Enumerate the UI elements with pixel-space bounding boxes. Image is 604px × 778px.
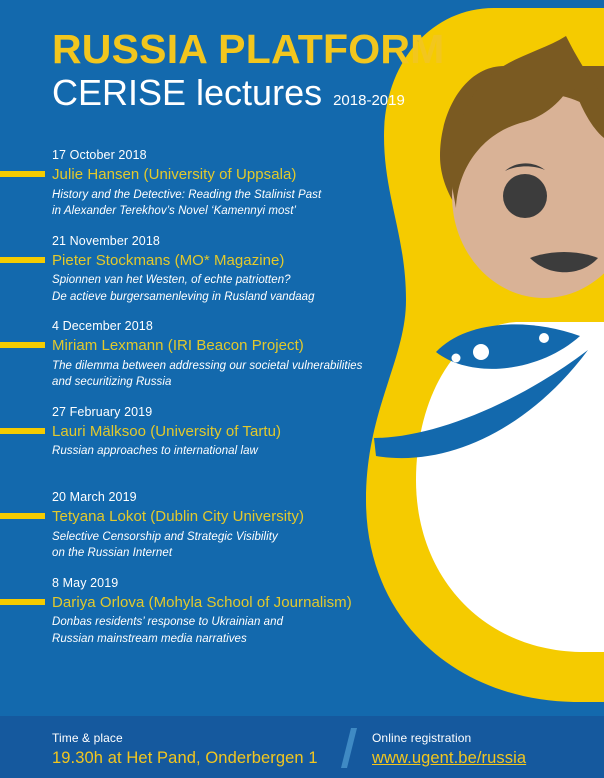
lecture-description-line1: The dilemma between addressing our socie… (52, 358, 420, 374)
lecture-date: 4 December 2018 (52, 317, 420, 335)
list-item: 17 October 2018 Julie Hansen (University… (0, 146, 420, 220)
lecture-dash-marker (0, 599, 45, 605)
lecture-dash-marker (0, 428, 45, 434)
doll-leaf-dot-2 (452, 354, 461, 363)
lecture-description-line1: History and the Detective: Reading the S… (52, 187, 420, 203)
lecture-body: 17 October 2018 Julie Hansen (University… (0, 146, 420, 220)
lecture-dash-marker (0, 342, 45, 348)
footer-inner: Time & place 19.30h at Het Pand, Onderbe… (0, 716, 604, 778)
doll-leaf-decoration-upper (436, 324, 580, 368)
footer-slash-divider: / (341, 728, 359, 768)
lecture-description-line2: in Alexander Terekhov’s Novel ‘Kamennyi … (52, 203, 420, 219)
list-item: 8 May 2019 Dariya Orlova (Mohyla School … (0, 574, 420, 648)
lecture-list: 17 October 2018 Julie Hansen (University… (0, 146, 420, 659)
poster-canvas: RUSSIA PLATFORM CERISE lectures 2018-201… (0, 0, 604, 778)
lecture-description-line1: Selective Censorship and Strategic Visib… (52, 529, 420, 545)
lecture-date: 21 November 2018 (52, 232, 420, 250)
poster-header: RUSSIA PLATFORM CERISE lectures 2018-201… (52, 28, 444, 112)
lecture-description-line1: Donbas residents’ response to Ukrainian … (52, 614, 420, 630)
lecture-body: 20 March 2019 Tetyana Lokot (Dublin City… (0, 488, 420, 562)
lecture-speaker: Lauri Mälksoo (University of Tartu) (52, 421, 420, 444)
page-title: RUSSIA PLATFORM (52, 28, 444, 70)
list-item: 4 December 2018 Miriam Lexmann (IRI Beac… (0, 317, 420, 391)
lecture-speaker: Pieter Stockmans (MO* Magazine) (52, 250, 420, 273)
lecture-description-line2: De actieve burgersamenleving in Rusland … (52, 289, 420, 305)
lecture-date: 20 March 2019 (52, 488, 420, 506)
lecture-speaker: Miriam Lexmann (IRI Beacon Project) (52, 335, 420, 358)
registration-url-link[interactable]: www.ugent.be/russia (372, 747, 526, 769)
lecture-body: 4 December 2018 Miriam Lexmann (IRI Beac… (0, 317, 420, 391)
lecture-date: 27 February 2019 (52, 403, 420, 421)
list-item: 27 February 2019 Lauri Mälksoo (Universi… (0, 403, 420, 477)
lecture-body: 21 November 2018 Pieter Stockmans (MO* M… (0, 232, 420, 306)
doll-face (452, 94, 604, 298)
lecture-speaker: Tetyana Lokot (Dublin City University) (52, 506, 420, 529)
lecture-dash-marker (0, 257, 45, 263)
lecture-description-line2 (52, 460, 420, 476)
lecture-speaker: Julie Hansen (University of Uppsala) (52, 164, 420, 187)
subtitle-row: CERISE lectures 2018-2019 (52, 74, 444, 112)
doll-leaf-dot-3 (539, 333, 549, 343)
lecture-body: 27 February 2019 Lauri Mälksoo (Universi… (0, 403, 420, 477)
lecture-description-line2: Russian mainstream media narratives (52, 631, 420, 647)
footer-registration-block: Online registration www.ugent.be/russia (372, 729, 526, 769)
lecture-dash-marker (0, 513, 45, 519)
lecture-description-line1: Russian approaches to international law (52, 443, 420, 459)
doll-hair-fringe (452, 36, 604, 208)
poster-footer: Time & place 19.30h at Het Pand, Onderbe… (0, 716, 604, 778)
lecture-date: 8 May 2019 (52, 574, 420, 592)
lecture-description-line1: Spionnen van het Westen, of echte patrio… (52, 272, 420, 288)
lecture-speaker: Dariya Orlova (Mohyla School of Journali… (52, 592, 420, 615)
list-item: 20 March 2019 Tetyana Lokot (Dublin City… (0, 488, 420, 562)
doll-leaf-dot-1 (473, 344, 489, 360)
footer-time-value: 19.30h at Het Pand, Onderbergen 1 (52, 747, 318, 769)
lecture-dash-marker (0, 171, 45, 177)
doll-eye (503, 174, 547, 218)
academic-year-label: 2018-2019 (333, 92, 405, 109)
footer-time-place-block: Time & place 19.30h at Het Pand, Onderbe… (52, 729, 318, 769)
lecture-date: 17 October 2018 (52, 146, 420, 164)
footer-time-label: Time & place (52, 729, 318, 747)
lecture-description-line2: on the Russian Internet (52, 545, 420, 561)
list-item: 21 November 2018 Pieter Stockmans (MO* M… (0, 232, 420, 306)
page-subtitle: CERISE lectures (52, 74, 322, 112)
doll-smile (530, 252, 598, 272)
doll-eyebrow (505, 163, 545, 171)
footer-registration-label: Online registration (372, 729, 526, 747)
doll-hair (440, 66, 604, 206)
lecture-body: 8 May 2019 Dariya Orlova (Mohyla School … (0, 574, 420, 648)
doll-apron (416, 322, 604, 652)
lecture-description-line2: and securitizing Russia (52, 374, 420, 390)
